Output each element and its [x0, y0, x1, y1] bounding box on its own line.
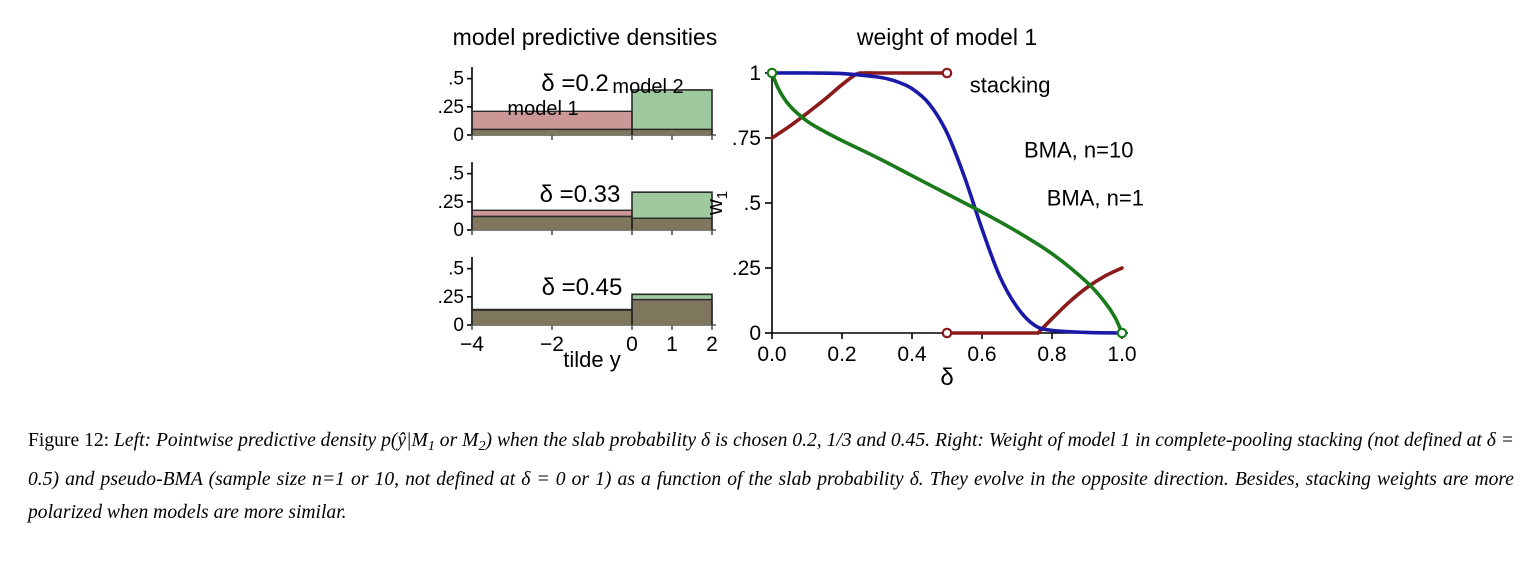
- figure-area: model predictive densities0.25.5δ =0.20.…: [0, 0, 1532, 420]
- panel-ytick-label-1-2: .5: [448, 69, 464, 90]
- panel-ytick-label-2-2: .5: [448, 164, 464, 185]
- caption-part-4: 2: [478, 438, 485, 454]
- left-xtick-label-0: −4: [460, 333, 484, 356]
- delta-label-3: δ =0.45: [542, 274, 623, 301]
- right-xtick-label-5: 1.0: [1107, 343, 1136, 366]
- model1-bar-3-0: [472, 310, 632, 326]
- panel-ytick-label-3-2: .5: [448, 259, 464, 280]
- model1-bar-2-1: [632, 218, 712, 230]
- right-ytick-label-3: .75: [732, 127, 761, 150]
- left-panel-title: model predictive densities: [453, 24, 718, 50]
- marker-bma-n-1-1: [1118, 329, 1126, 337]
- right-xtick-label-3: 0.6: [967, 343, 996, 366]
- right-xtick-label-2: 0.4: [897, 343, 927, 366]
- left-xtick-label-3: 1: [666, 333, 678, 356]
- left-xtick-label-2: 0: [626, 333, 638, 356]
- caption-part-2: 1: [428, 438, 435, 454]
- right-xtick-label-1: 0.2: [827, 343, 856, 366]
- caption-part-1: ŷ|M: [397, 430, 427, 451]
- marker-stacking-1: [943, 329, 951, 337]
- panel-ytick-label-2-1: .25: [438, 192, 464, 213]
- marker-bma-n-1-0: [768, 69, 776, 77]
- right-ytick-label-0: 0: [749, 322, 761, 345]
- right-xtick-label-0: 0.0: [757, 343, 786, 366]
- caption-part-3: or M: [435, 430, 479, 451]
- right-xtick-label-4: 0.8: [1037, 343, 1066, 366]
- curve-stacking: [772, 73, 947, 138]
- right-ytick-label-2: .5: [743, 192, 761, 215]
- annotation-stacking: stacking: [970, 73, 1051, 98]
- left-xaxis-label: tilde y: [563, 347, 620, 372]
- model2-legend-label: model 2: [612, 76, 683, 98]
- model1-bar-3-1: [632, 300, 712, 325]
- left-xtick-label-1: −2: [540, 333, 564, 356]
- model1-bar-1-1: [632, 129, 712, 135]
- panel-ytick-label-3-1: .25: [438, 287, 464, 308]
- caption-text: Left: Pointwise predictive density p(ŷ|M…: [28, 430, 1514, 523]
- panel-ytick-label-1-0: 0: [453, 125, 464, 146]
- figure-caption: Figure 12: Left: Pointwise predictive de…: [28, 424, 1514, 529]
- marker-stacking-0: [943, 69, 951, 77]
- right-panel-title: weight of model 1: [856, 24, 1037, 50]
- model1-bar-2-0: [472, 210, 632, 230]
- caption-part-0: Left: Pointwise predictive density p(: [114, 430, 397, 451]
- right-xaxis-label: δ: [940, 364, 953, 391]
- delta-label-2: δ =0.33: [540, 181, 621, 208]
- panel-ytick-label-1-1: .25: [438, 97, 464, 118]
- model1-legend-label: model 1: [507, 98, 578, 120]
- delta-label-1: δ =0.2: [541, 70, 608, 97]
- right-ytick-label-1: .25: [732, 257, 761, 280]
- panel-ytick-label-2-0: 0: [453, 220, 464, 241]
- left-xtick-label-4: 2: [706, 333, 718, 356]
- right-ytick-label-4: 1: [749, 62, 761, 85]
- annotation-bma-n10: BMA, n=10: [1024, 138, 1133, 163]
- caption-label: Figure 12:: [28, 430, 109, 451]
- annotation-bma-n1: BMA, n=1: [1047, 186, 1144, 211]
- figure-svg: model predictive densities0.25.5δ =0.20.…: [0, 0, 1532, 420]
